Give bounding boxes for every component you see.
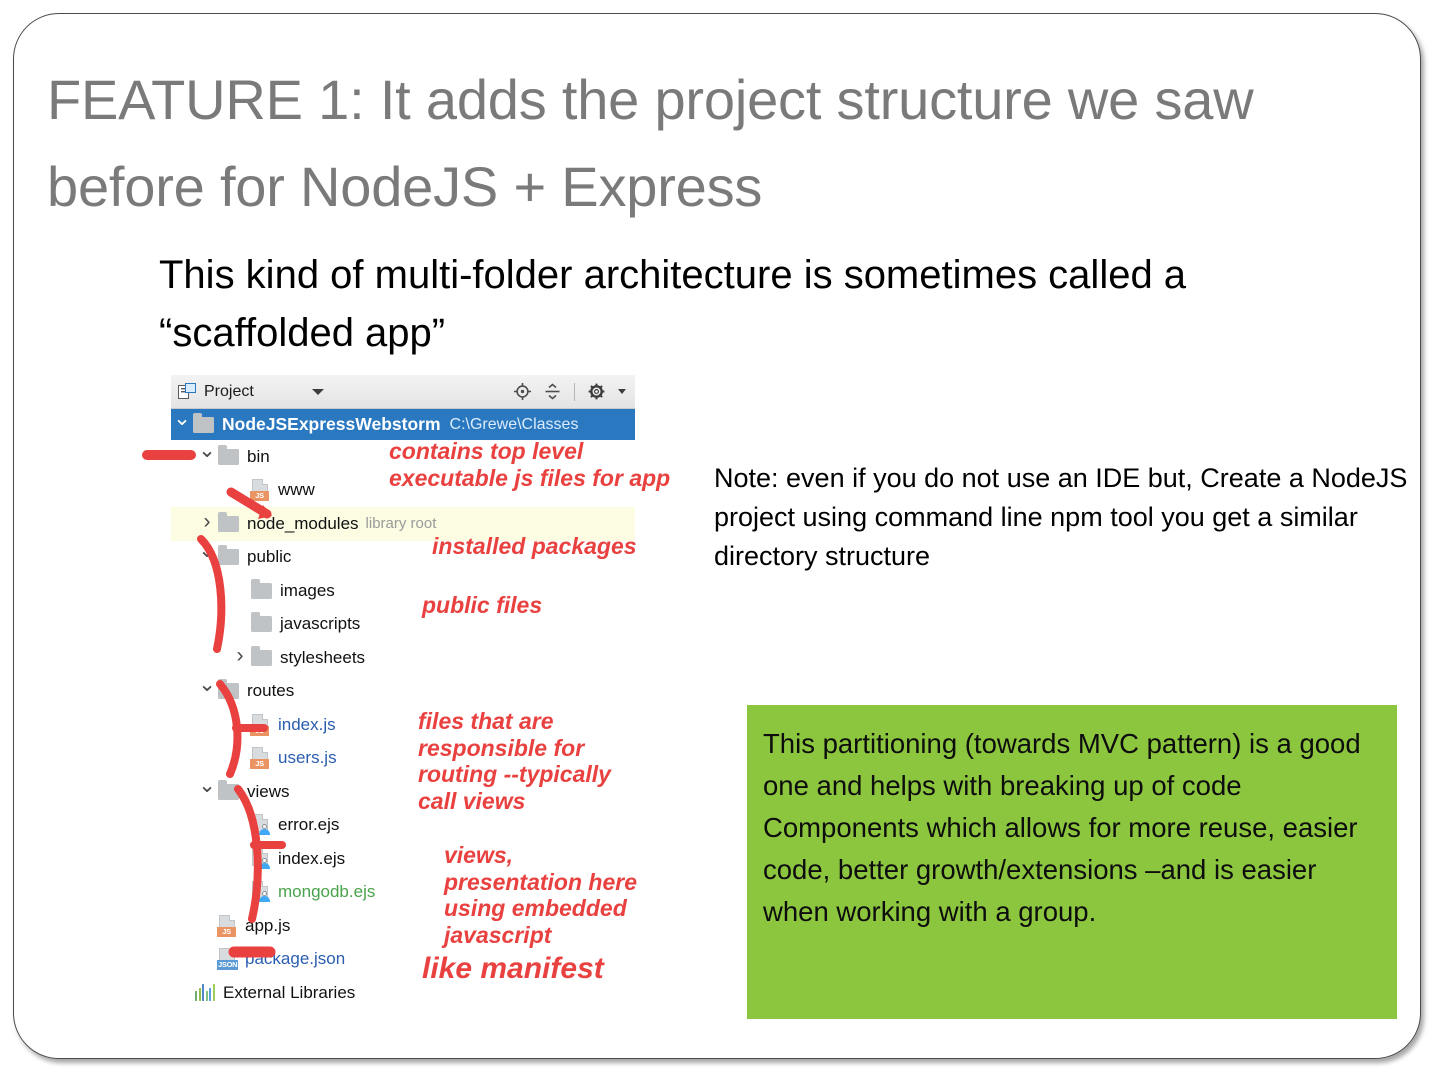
- chevron-down-icon[interactable]: [171, 417, 193, 433]
- green-callout-box: This partitioning (towards MVC pattern) …: [747, 705, 1397, 1019]
- tree-item-label: images: [280, 581, 335, 601]
- tree-item-sublabel: library root: [366, 515, 437, 532]
- tree-item-label: javascripts: [280, 614, 360, 634]
- tree-item-label: mongodb.ejs: [278, 882, 375, 902]
- folder-icon: [218, 549, 239, 565]
- tree-row-routes[interactable]: routes: [171, 675, 635, 709]
- chevron-down-icon[interactable]: [196, 784, 218, 800]
- tree-item-label: error.ejs: [278, 815, 339, 835]
- subtitle-text: This kind of multi-folder architecture i…: [159, 246, 1339, 362]
- toolbar-divider: [574, 383, 575, 401]
- tree-row-stylesheets[interactable]: stylesheets: [171, 641, 635, 675]
- page-title: FEATURE 1: It adds the project structure…: [47, 56, 1377, 231]
- tree-row-project-root[interactable]: NodeJSExpressWebstorm C:\Grewe\Classes: [171, 409, 635, 440]
- tree-item-label: routes: [247, 681, 294, 701]
- note-text: Note: even if you do not use an IDE but,…: [714, 459, 1440, 576]
- tree-item-label: node_modules: [247, 514, 359, 534]
- project-panel-toolbar: Project: [171, 375, 635, 409]
- gear-dropdown-caret-icon[interactable]: [618, 389, 626, 394]
- ann-bin: contains top level executable js files f…: [389, 438, 670, 491]
- folder-icon: [218, 784, 239, 800]
- folder-icon: [193, 417, 214, 433]
- ejs-file-icon: [251, 848, 270, 870]
- ejs-file-icon: [251, 814, 270, 836]
- js-file-icon: JS: [251, 479, 270, 501]
- tree-item-label: app.js: [245, 916, 290, 936]
- project-view-icon: [178, 383, 197, 400]
- ann-public: public files: [422, 592, 542, 619]
- folder-icon: [218, 516, 239, 532]
- tree-item-label: views: [247, 782, 290, 802]
- ann-views: views, presentation here using embedded …: [444, 842, 637, 949]
- folder-icon: [251, 616, 272, 632]
- tree-item-label: public: [247, 547, 291, 567]
- project-root-path: C:\Grewe\Classes: [450, 416, 579, 434]
- chevron-right-icon[interactable]: [196, 516, 218, 532]
- chevron-down-icon[interactable]: [196, 449, 218, 465]
- tree-item-label: package.json: [245, 949, 345, 969]
- project-panel-title: Project: [204, 383, 254, 401]
- ejs-file-icon: [251, 881, 270, 903]
- caret-down-icon[interactable]: [312, 389, 324, 395]
- tree-item-label: index.js: [278, 715, 336, 735]
- green-callout-line-2: Components which allows for more reuse, …: [763, 807, 1381, 933]
- js-file-icon: JS: [251, 747, 270, 769]
- tree-row-images[interactable]: images: [171, 574, 635, 608]
- tree-item-label: External Libraries: [223, 983, 355, 1003]
- tree-row-javascripts[interactable]: javascripts: [171, 608, 635, 642]
- chevron-down-icon[interactable]: [196, 683, 218, 699]
- external-libraries-icon: [195, 984, 215, 1001]
- chevron-right-icon[interactable]: [229, 650, 251, 666]
- folder-icon: [218, 449, 239, 465]
- folder-icon: [251, 583, 272, 599]
- json-file-icon: JSON: [218, 948, 237, 970]
- tree-item-label: users.js: [278, 748, 337, 768]
- locate-target-icon[interactable]: [514, 383, 531, 400]
- folder-icon: [251, 650, 272, 666]
- collapse-all-icon[interactable]: [544, 383, 561, 400]
- tree-item-label: www: [278, 480, 315, 500]
- ann-routes: files that are responsible for routing -…: [418, 708, 611, 815]
- js-file-icon: JS: [251, 714, 270, 736]
- tree-item-label: index.ejs: [278, 849, 345, 869]
- slide-canvas: FEATURE 1: It adds the project structure…: [13, 13, 1421, 1059]
- tree-item-label: bin: [247, 447, 270, 467]
- ann-modules: installed packages: [432, 533, 637, 560]
- ann-manifest: like manifest: [422, 952, 604, 987]
- js-file-icon: JS: [218, 915, 237, 937]
- green-callout-line-1: This partitioning (towards MVC pattern) …: [763, 723, 1381, 807]
- chevron-down-icon[interactable]: [196, 549, 218, 565]
- settings-gear-icon[interactable]: [588, 383, 605, 400]
- tree-item-label: stylesheets: [280, 648, 365, 668]
- folder-icon: [218, 683, 239, 699]
- project-root-name: NodeJSExpressWebstorm: [222, 414, 441, 435]
